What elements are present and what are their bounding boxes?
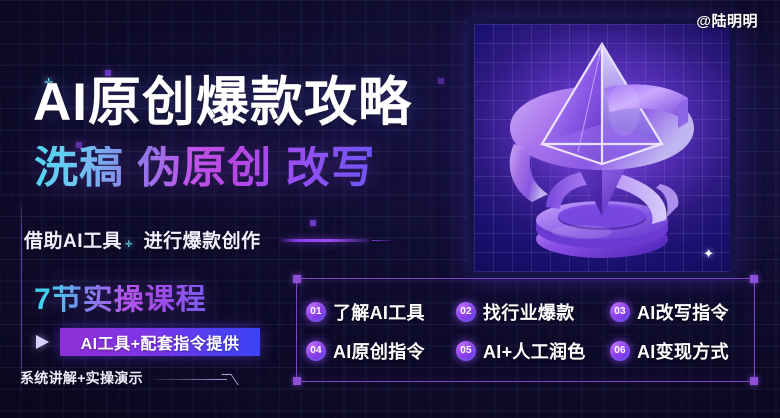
poster-canvas: ✦ @陆明明 ✛ ✛ AI原创爆款攻略 洗稿 伪原创 改写 借助AI工具 进行爆… xyxy=(0,0,780,418)
course-item[interactable]: 06 AI变现方式 xyxy=(610,338,748,364)
cta-banner[interactable]: AI工具+配套指令提供 xyxy=(22,328,260,356)
course-number-badge: 04 xyxy=(306,341,326,361)
course-label: 找行业爆款 xyxy=(483,299,575,325)
course-item[interactable]: 05 AI+人工润色 xyxy=(456,338,610,364)
page-subtitle: 洗稿 伪原创 改写 xyxy=(34,146,375,190)
course-item[interactable]: 01 了解AI工具 xyxy=(306,299,456,325)
deco-square xyxy=(438,78,444,84)
course-number-badge: 06 xyxy=(610,341,630,361)
arrow-shaft xyxy=(155,379,227,380)
course-item[interactable]: 03 AI改写指令 xyxy=(610,299,748,325)
left-accent-rule xyxy=(21,196,22,396)
watermark: @陆明明 xyxy=(696,10,758,31)
course-number-badge: 01 xyxy=(306,302,326,322)
course-label: AI改写指令 xyxy=(637,299,729,325)
play-triangle-icon xyxy=(36,335,49,349)
frame-corner-bottom-left xyxy=(293,377,301,385)
tagline: 借助AI工具 进行爆款创作 xyxy=(24,226,261,253)
course-number-badge: 05 xyxy=(456,341,476,361)
cta-bar[interactable]: AI工具+配套指令提供 xyxy=(60,328,260,356)
course-label: 了解AI工具 xyxy=(333,299,425,325)
course-number-badge: 03 xyxy=(610,302,630,322)
tagline-left: 借助AI工具 xyxy=(24,231,122,252)
sparkle-icon: ✦ xyxy=(703,247,714,260)
course-number-badge: 02 xyxy=(456,302,476,322)
cta-label: AI工具+配套指令提供 xyxy=(81,330,240,354)
course-label: AI变现方式 xyxy=(637,338,729,364)
frame-corner-top-right xyxy=(750,275,758,283)
course-label: AI+人工润色 xyxy=(483,338,586,364)
frame-corner-top-left xyxy=(293,275,301,283)
tagline-right: 进行爆款创作 xyxy=(144,231,261,252)
deco-square xyxy=(310,220,316,226)
course-list: 01 了解AI工具 02 找行业爆款 03 AI改写指令 04 AI原创指令 0… xyxy=(306,292,748,370)
frame-corner-bottom-right xyxy=(750,377,758,385)
pyramid-ribbon-icon xyxy=(474,24,730,272)
course-count-heading: 7节实操课程 xyxy=(34,285,207,315)
arrow-icon xyxy=(155,374,235,386)
tagline-accent-line xyxy=(278,239,370,242)
tagline-accent-line-tail xyxy=(372,240,396,241)
page-title: AI原创爆款攻略 xyxy=(33,76,412,129)
hero-image-panel: ✦ xyxy=(468,18,736,278)
course-item[interactable]: 04 AI原创指令 xyxy=(306,338,456,364)
course-label: AI原创指令 xyxy=(333,338,425,364)
course-item[interactable]: 02 找行业爆款 xyxy=(456,299,610,325)
footnote: 系统讲解+实操演示 xyxy=(20,368,143,388)
